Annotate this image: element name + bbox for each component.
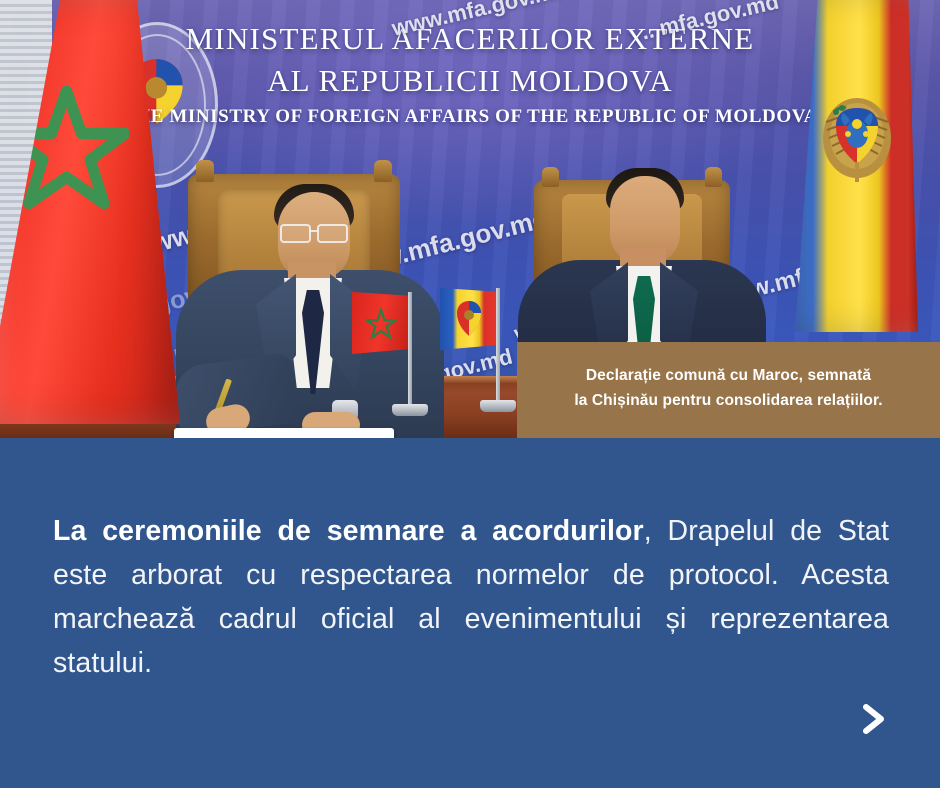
eyeglasses-icon: [280, 224, 348, 240]
caption-line-2: la Chișinău pentru consolidarea relațiil…: [574, 388, 882, 413]
blue-text-panel: La ceremoniile de semnare a acordurilor,…: [0, 438, 940, 788]
official-morocco: [182, 150, 432, 438]
next-slide-button[interactable]: [846, 692, 900, 746]
signing-ceremony-photo: MINISTERUL AFACERILOR EXTERNE AL REPUBLI…: [0, 0, 940, 438]
slide-card: MINISTERUL AFACERILOR EXTERNE AL REPUBLI…: [0, 0, 940, 788]
chevron-right-icon: [850, 696, 896, 742]
panel-lead-text: La ceremoniile de semnare a acordurilor: [53, 515, 644, 547]
signing-document: [174, 428, 394, 438]
panel-paragraph: La ceremoniile de semnare a acordurilor,…: [53, 509, 889, 685]
moldova-national-flag: [796, 0, 918, 332]
caption-line-1: Declarație comună cu Maroc, semnată: [586, 363, 871, 388]
photo-caption-box: Declarație comună cu Maroc, semnată la C…: [517, 342, 940, 438]
